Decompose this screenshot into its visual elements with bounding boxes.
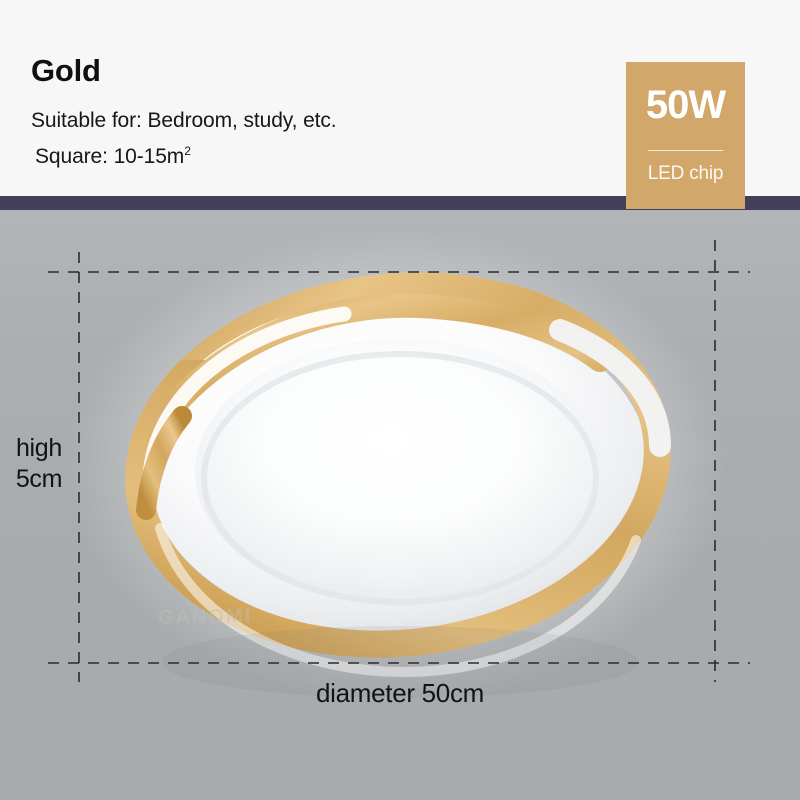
diameter-dimension-label: diameter 50cm bbox=[0, 678, 800, 709]
wattage-badge: 50W LED chip bbox=[626, 62, 745, 209]
page-title: Gold bbox=[31, 53, 101, 89]
square-area-value: Square: 10-15m bbox=[35, 145, 184, 168]
height-label-line-2: 5cm bbox=[5, 464, 73, 495]
led-chip-label: LED chip bbox=[626, 163, 745, 185]
wattage-value: 50W bbox=[626, 83, 745, 128]
badge-divider-line bbox=[648, 150, 723, 151]
product-spec-image: Gold Suitable for: Bedroom, study, etc. … bbox=[0, 0, 800, 800]
height-dimension-label: high 5cm bbox=[5, 433, 73, 495]
suitable-for-text: Suitable for: Bedroom, study, etc. bbox=[31, 109, 337, 133]
square-area-text: Square: 10-15m2 bbox=[35, 145, 191, 169]
product-photo: GANOMI bbox=[0, 210, 800, 800]
height-label-line-1: high bbox=[5, 433, 73, 464]
brand-watermark: GANOMI bbox=[158, 605, 253, 630]
lamp-illustration bbox=[0, 210, 800, 800]
square-unit-superscript: 2 bbox=[184, 144, 191, 158]
